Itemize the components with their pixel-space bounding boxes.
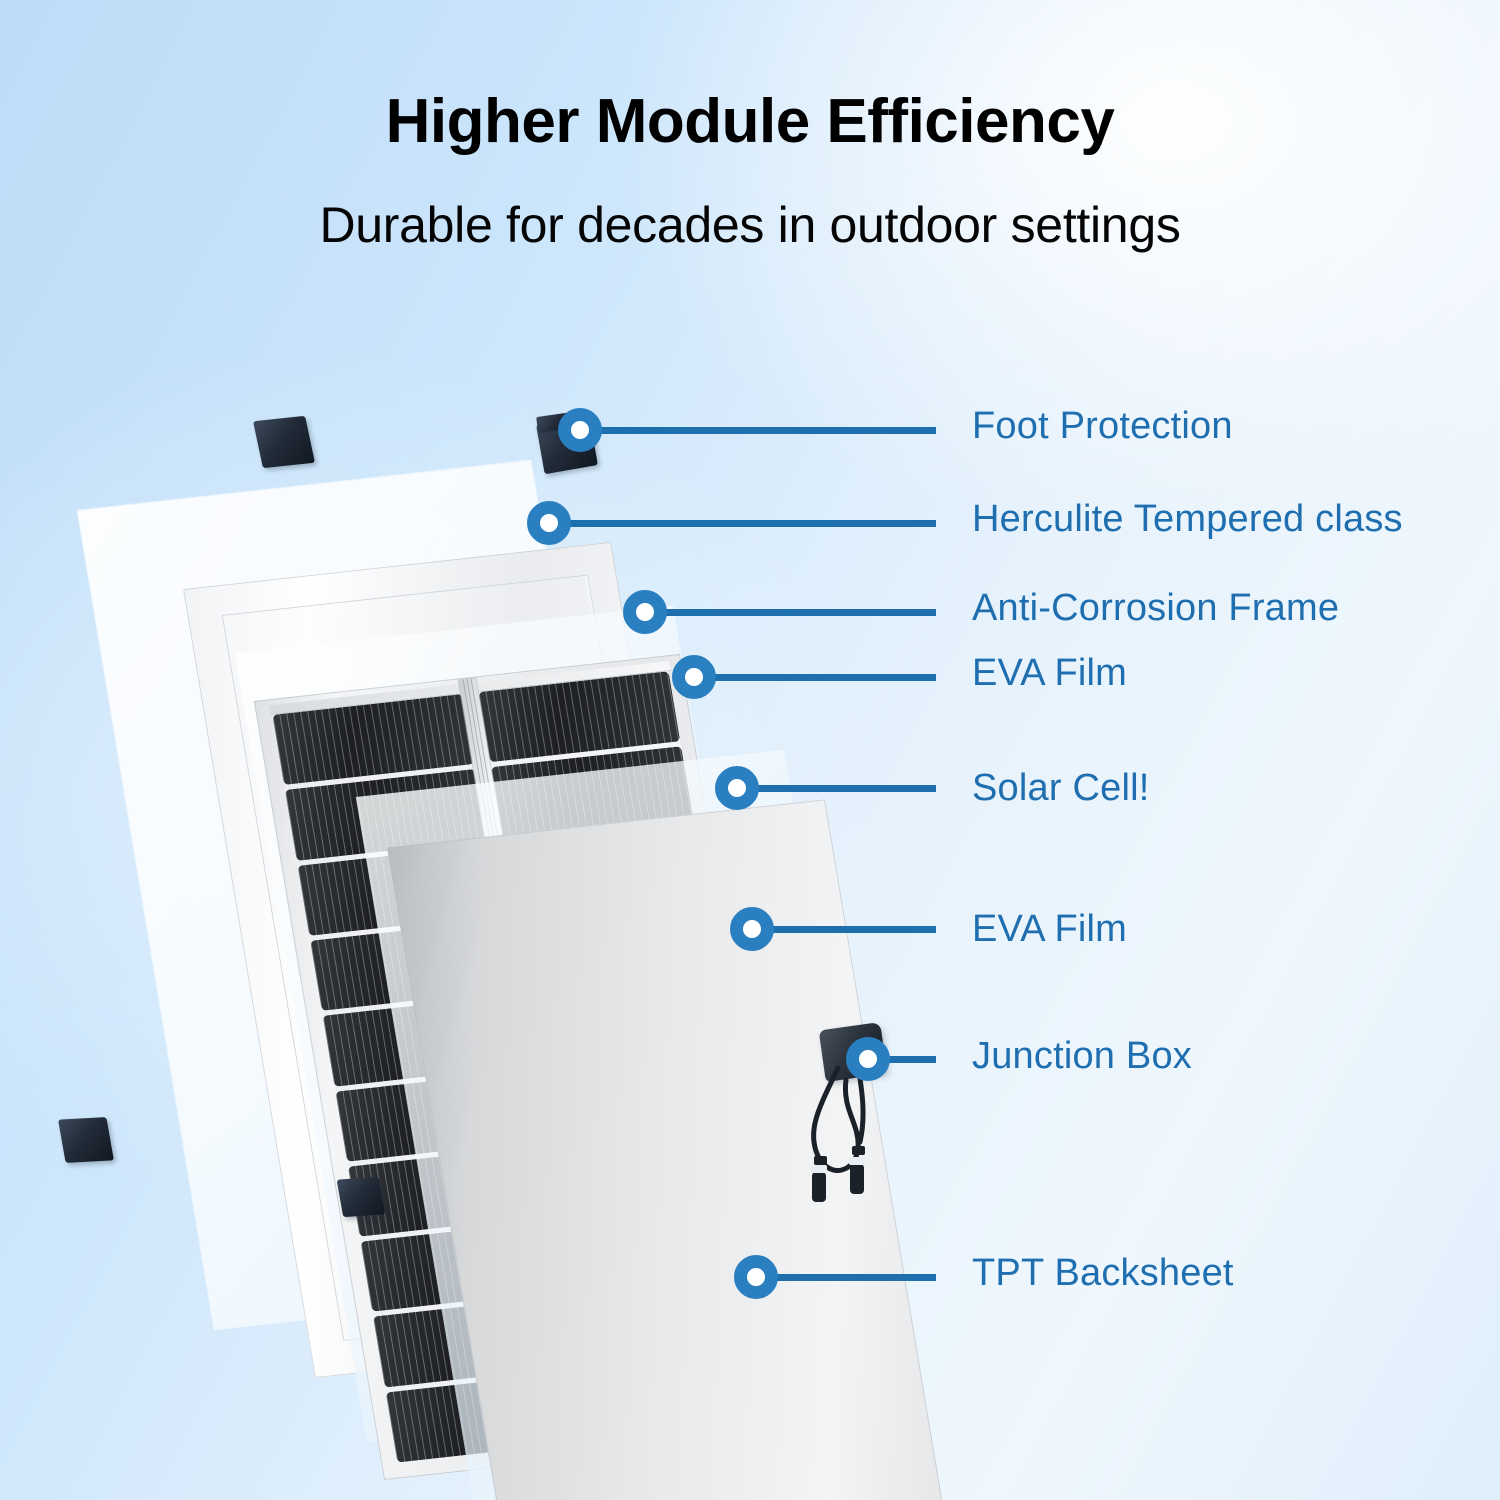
foot-protection-block: [337, 1177, 386, 1217]
foot-protection-block: [58, 1117, 114, 1163]
callout-label: Solar Cell!: [972, 767, 1150, 810]
callout-leader-line: [774, 1274, 936, 1281]
callout-label: Herculite Tempered class: [972, 498, 1403, 541]
callout-leader-line: [755, 785, 936, 792]
callout-label: EVA Film: [972, 908, 1127, 951]
callout-label: Junction Box: [972, 1035, 1192, 1078]
callout-leader-line: [567, 520, 936, 527]
callout-leader-line: [663, 609, 936, 616]
foot-protection-block: [253, 416, 315, 468]
mc4-cable-assembly: [790, 1060, 910, 1210]
callout-leader-line: [598, 427, 936, 434]
callout-marker-icon[interactable]: [672, 655, 716, 699]
callout-label: EVA Film: [972, 652, 1127, 695]
callout-marker-icon[interactable]: [623, 590, 667, 634]
callout-marker-icon[interactable]: [730, 907, 774, 951]
callout-leader-line: [886, 1056, 936, 1063]
callout-label: Foot Protection: [972, 405, 1233, 448]
callout-marker-icon[interactable]: [715, 766, 759, 810]
product-infographic: Higher Module Efficiency Durable for dec…: [0, 0, 1500, 1500]
callout-marker-icon[interactable]: [734, 1255, 778, 1299]
callout-marker-icon[interactable]: [558, 408, 602, 452]
callout-marker-icon[interactable]: [846, 1037, 890, 1081]
callout-marker-icon[interactable]: [527, 501, 571, 545]
callout-leader-line: [712, 674, 936, 681]
callout-label: TPT Backsheet: [972, 1252, 1234, 1295]
callout-leader-line: [770, 926, 936, 933]
callout-label: Anti-Corrosion Frame: [972, 587, 1339, 630]
